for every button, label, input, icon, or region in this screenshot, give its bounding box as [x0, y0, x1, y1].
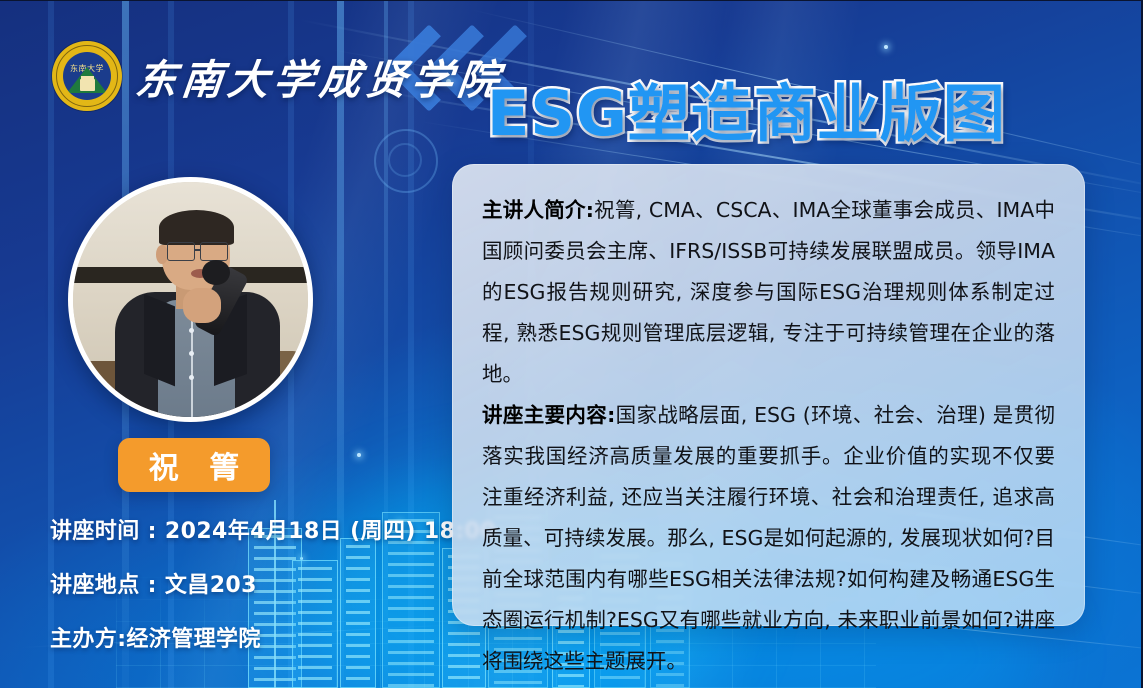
glow-dot-3 — [357, 453, 361, 457]
speaker-bio-paragraph: 主讲人简介:祝箐, CMA、CSCA、IMA全球董事会成员、IMA中国顾问委员会… — [482, 190, 1055, 395]
lecture-content-text: 国家战略层面, ESG (环境、社会、治理) 是贯彻落实我国经济高质量发展的重要… — [482, 403, 1055, 673]
university-seal-icon: 东南大学 — [52, 41, 122, 111]
speaker-bio-label: 主讲人简介: — [482, 198, 594, 222]
brand-lockup: 东南大学 东南大学成贤学院 — [52, 41, 504, 111]
event-host-row: 主办方:经济管理学院 — [50, 621, 470, 653]
page-title-fill: ESG塑造商业版图 — [487, 63, 1006, 153]
event-time-row: 讲座时间 : 2024年4月18日 (周四) 18:00 — [50, 513, 470, 545]
content-panel: 主讲人简介:祝箐, CMA、CSCA、IMA全球董事会成员、IMA中国顾问委员会… — [452, 164, 1085, 626]
poster-canvas: 东南大学 东南大学成贤学院 ESG塑造商业版图 ESG塑造商业版图 — [0, 0, 1143, 688]
lecture-content-label: 讲座主要内容: — [482, 403, 615, 427]
event-place-row: 讲座地点 : 文昌203 — [50, 567, 470, 599]
speaker-bio-text: 祝箐, CMA、CSCA、IMA全球董事会成员、IMA中国顾问委员会主席、IFR… — [482, 198, 1055, 386]
speaker-name-badge: 祝 箐 — [118, 438, 270, 492]
glow-dot-2 — [884, 45, 888, 49]
lecture-content-paragraph: 讲座主要内容:国家战略层面, ESG (环境、社会、治理) 是贯彻落实我国经济高… — [482, 395, 1055, 682]
speaker-portrait — [68, 177, 313, 422]
event-details: 讲座时间 : 2024年4月18日 (周四) 18:00 讲座地点 : 文昌20… — [50, 513, 470, 675]
circle-arc-decoration-small — [388, 143, 422, 177]
university-name: 东南大学成贤学院 — [133, 46, 507, 106]
